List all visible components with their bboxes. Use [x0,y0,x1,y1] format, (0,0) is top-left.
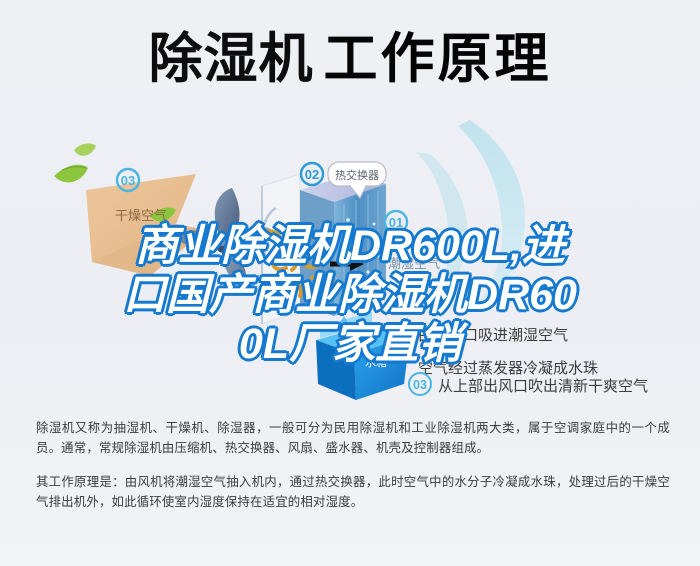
callout-heat-exchanger-text: 热交换器 [335,168,379,182]
water-drip [339,316,349,331]
dehumidifier-diagram: 03 02 01 热交换器 干燥空气 潮湿空气 水箱 [0,112,700,400]
step-text-01: 由进风口吸进潮湿空气 [418,327,568,344]
article-body: 除湿机又称为抽湿机、干燥机、除湿器，一般可分为民用除湿机和工业除湿机两大类，属于… [36,418,670,512]
title-banner: 除湿机工作原理 [0,0,700,118]
svg-text:空气经过蒸发器冷凝成水珠: 空气经过蒸发器冷凝成水珠 [418,360,598,377]
water-tank [316,312,410,400]
page-title-part2: 工作原理 [324,29,552,89]
svg-text:01: 01 [389,215,403,230]
heat-exchanger-block [300,174,386,316]
step-text-02: 空气经过蒸发器冷凝成水珠 [418,360,598,377]
svg-text:02: 02 [305,167,319,182]
dry-air-shape [86,174,206,276]
svg-text:03: 03 [121,173,135,188]
page-title: 除湿机工作原理 [0,26,700,92]
svg-text:03: 03 [413,378,427,392]
page-title-part1: 除湿机 [149,29,314,89]
badge-03-left: 03 [117,169,139,191]
badge-01: 01 [385,211,407,233]
humid-air-arc [416,120,525,316]
label-humid-air: 潮湿空气 [388,256,440,271]
svg-text:由进风口吸进潮湿空气: 由进风口吸进潮湿空气 [418,327,568,344]
label-dry-air: 干燥空气 [115,208,167,223]
badge-02: 02 [301,163,323,185]
svg-text:从上部出风口吹出清新干爽空气: 从上部出风口吹出清新干爽空气 [438,378,648,395]
machine-housing [262,174,300,324]
label-water-tank: 水箱 [365,355,387,369]
page-root: 除湿机工作原理 [0,0,700,566]
article-paragraph-2: 其工作原理是：由风机将潮湿空气抽入机内，通过热交换器，此时空气中的水分子冷凝成水… [36,472,670,512]
article-paragraph-1: 除湿机又称为抽湿机、干燥机、除湿器，一般可分为民用除湿机和工业除湿机两大类，属于… [36,418,670,458]
